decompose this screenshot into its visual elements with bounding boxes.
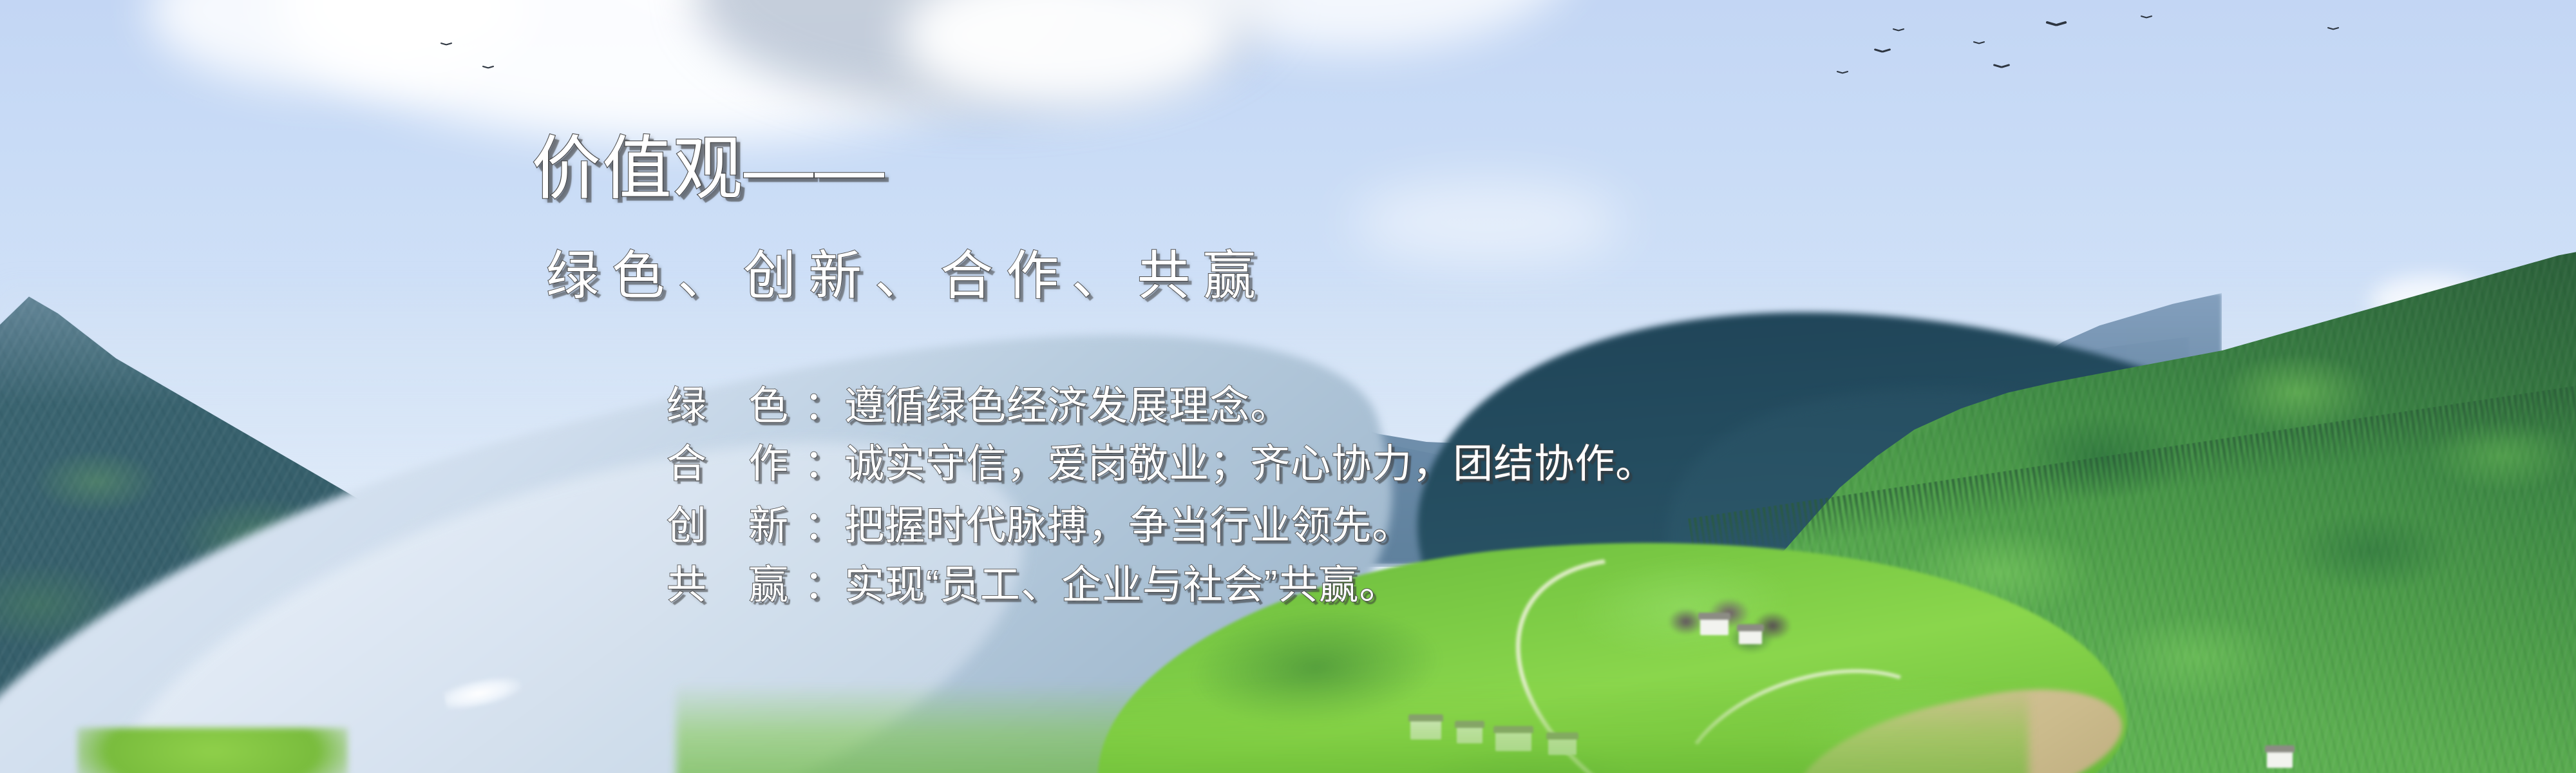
value-item-separator: ： — [804, 504, 844, 548]
banner-subtitle: 绿色、创新、合作、共赢 — [546, 250, 1269, 303]
value-item-text: 遵循绿色经济发展理念。 — [844, 384, 1291, 428]
value-item-text: 诚实守信，爱岗敬业；齐心协力，团结协作。 — [844, 442, 1656, 486]
value-item-text: 把握时代脉搏，争当行业领先。 — [844, 504, 1412, 548]
value-item-key: 创 新 — [667, 504, 804, 548]
value-item-text: 实现“员工、企业与社会”共赢。 — [844, 563, 1399, 607]
value-item: 绿 色：遵循绿色经济发展理念。 — [667, 386, 1291, 426]
value-item: 合 作：诚实守信，爱岗敬业；齐心协力，团结协作。 — [667, 444, 1656, 484]
banner-text-block: 价值观—— 绿色、创新、合作、共赢 绿 色：遵循绿色经济发展理念。 合 作：诚实… — [0, 0, 2576, 773]
value-item-separator: ： — [804, 442, 844, 486]
value-item-separator: ： — [804, 384, 844, 428]
value-item: 共 赢：实现“员工、企业与社会”共赢。 — [667, 566, 1400, 606]
value-item-key: 绿 色 — [667, 384, 804, 428]
banner-stage: 价值观—— 绿色、创新、合作、共赢 绿 色：遵循绿色经济发展理念。 合 作：诚实… — [0, 0, 2576, 773]
value-item-key: 共 赢 — [667, 563, 804, 607]
value-item: 创 新：把握时代脉搏，争当行业领先。 — [667, 506, 1412, 546]
value-item-separator: ： — [804, 563, 844, 607]
value-item-key: 合 作 — [667, 442, 804, 486]
page-title: 价值观—— — [531, 134, 885, 204]
